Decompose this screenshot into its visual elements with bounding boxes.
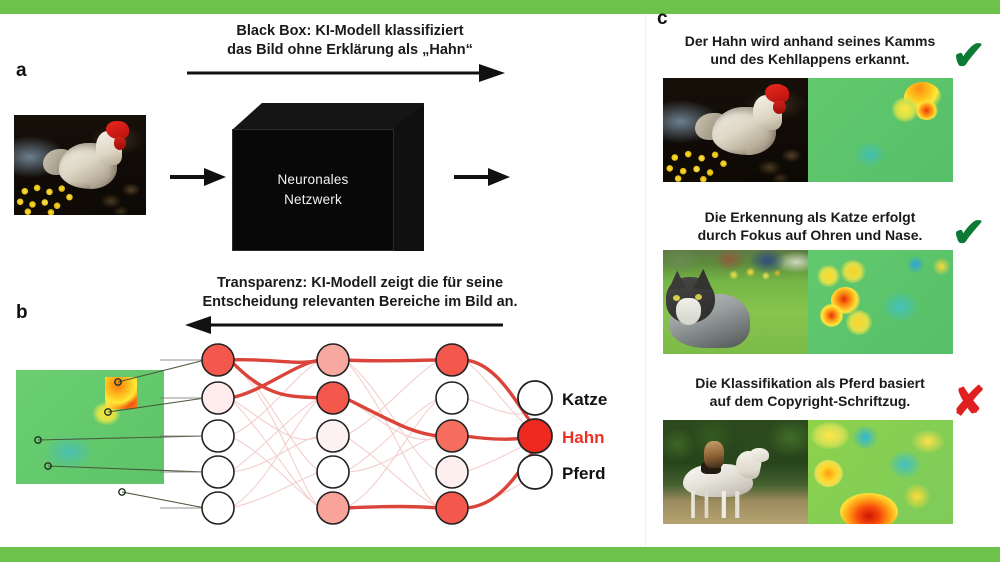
panel-label-a: a	[16, 60, 27, 82]
output-node-katze	[518, 381, 552, 415]
horse-rider	[704, 441, 724, 468]
panel-a-caption-line2: das Bild ohne Erklärung als „Hahn“	[150, 41, 550, 60]
heatmap-warm-region-b	[933, 258, 950, 275]
cube-side-face	[393, 103, 424, 251]
panel-c-row-horse	[663, 420, 953, 524]
node-l2-1	[317, 382, 349, 414]
heatmap-cool-region-a	[852, 426, 878, 449]
black-box-label: Neuronales Netzwerk	[232, 129, 394, 251]
node-l1-2	[202, 420, 234, 452]
heatmap-hotspot-copyright	[840, 493, 898, 524]
top-green-bar	[0, 0, 1000, 14]
node-l2-4	[317, 492, 349, 524]
status-mark-check-1: ✔	[952, 213, 986, 253]
arrow-right-icon-output	[452, 166, 510, 188]
panel-c-caption-0: Der Hahn wird anhand seines Kamms und de…	[660, 32, 960, 68]
rooster-foliage	[96, 169, 146, 215]
heatmap-hotspot-left	[814, 460, 843, 487]
rooster-photo-panel-c	[663, 78, 808, 182]
heatmap-warm-region-topleft	[811, 422, 849, 449]
network-layer-3	[436, 344, 468, 524]
panel-a-caption-line1: Black Box: KI-Modell klassifiziert	[150, 22, 550, 41]
panel-c-caption-0-line1: Der Hahn wird anhand seines Kamms	[660, 32, 960, 50]
heatmap-cool-region-b	[883, 292, 918, 321]
arrow-right-icon-input	[168, 166, 226, 188]
panel-c-row-rooster	[663, 78, 953, 182]
image-pair	[663, 78, 953, 182]
network-output-layer	[518, 381, 552, 489]
heatmap-hotspot-wattle	[915, 101, 938, 120]
panel-a-caption: Black Box: KI-Modell klassifiziert das B…	[150, 22, 550, 59]
cat-photo	[663, 250, 808, 354]
node-l1-1	[202, 382, 234, 414]
panel-label-c: c	[657, 8, 668, 30]
figure-root: a Black Box: KI-Modell klassifiziert das…	[0, 0, 1000, 562]
black-box-label-line1: Neuronales	[277, 170, 348, 190]
network-edges-highlighted	[230, 360, 545, 508]
cube-top-face	[232, 103, 424, 130]
cat-relevance-heatmap	[808, 250, 953, 354]
horse-head	[750, 448, 769, 462]
node-l3-2	[436, 420, 468, 452]
cat-muzzle	[676, 298, 701, 325]
heatmap-marker-circles	[35, 379, 125, 495]
node-l3-3	[436, 456, 468, 488]
node-l3-1	[436, 382, 468, 414]
output-label-pferd: Pferd	[562, 464, 605, 483]
node-l1-0	[202, 344, 234, 376]
node-l2-3	[317, 456, 349, 488]
network-layer-2	[317, 344, 349, 524]
panel-c-caption-0-line2: und des Kehllappens erkannt.	[660, 50, 960, 68]
panel-c-caption-1: Die Erkennung als Katze erfolgt durch Fo…	[660, 208, 960, 244]
heatmap-hotspot-chin	[820, 304, 843, 327]
network-edges-faint	[230, 360, 545, 508]
horse-relevance-heatmap	[808, 420, 953, 524]
yellow-flowers	[721, 265, 785, 284]
neural-network-diagram: Katze Hahn Pferd	[0, 330, 640, 530]
bottom-green-bar	[0, 547, 1000, 562]
arrow-right-icon-forward	[185, 62, 505, 84]
output-label-katze: Katze	[562, 390, 607, 409]
heatmap-cool-region-a	[907, 256, 924, 273]
panel-label-b: b	[16, 302, 28, 324]
network-input-stubs	[160, 360, 205, 508]
status-mark-cross-2: ✘	[952, 382, 986, 422]
cat-eye-right	[695, 294, 702, 300]
output-node-hahn	[518, 419, 552, 453]
output-node-pferd	[518, 455, 552, 489]
node-l1-4	[202, 492, 234, 524]
output-label-hahn: Hahn	[562, 428, 605, 447]
panel-b-caption-line2: Entscheidung relevanten Bereiche im Bild…	[150, 293, 570, 312]
node-l2-2	[317, 420, 349, 452]
horse-legs	[686, 491, 747, 518]
horse-with-rider-photo	[663, 420, 808, 524]
rooster-foliage	[753, 134, 808, 182]
image-pair	[663, 420, 953, 524]
node-l2-0	[317, 344, 349, 376]
panel-c-caption-2-line2: auf dem Copyright-Schriftzug.	[660, 392, 960, 410]
black-box-label-line2: Netzwerk	[284, 190, 342, 210]
node-l3-4	[436, 492, 468, 524]
network-layer-1	[202, 344, 234, 524]
node-l1-3	[202, 456, 234, 488]
heatmap-hotspot-ear-left	[817, 265, 840, 288]
status-mark-check-0: ✔	[952, 36, 986, 76]
panel-c-caption-2-line1: Die Klassifikation als Pferd basiert	[660, 374, 960, 392]
rooster-flowers	[14, 182, 91, 215]
black-box-neural-network: Neuronales Netzwerk	[232, 103, 424, 251]
panel-b-caption-line1: Transparenz: KI-Modell zeigt die für sei…	[150, 274, 570, 293]
heatmap-warm-region	[892, 97, 918, 122]
panel-c-caption-2: Die Klassifikation als Pferd basiert auf…	[660, 374, 960, 410]
panel-b-caption: Transparenz: KI-Modell zeigt die für sei…	[150, 274, 570, 311]
node-l3-0	[436, 344, 468, 376]
image-pair	[663, 250, 953, 354]
panel-c-row-cat	[663, 250, 953, 354]
rooster-photo-panel-a	[14, 115, 146, 215]
panel-c-caption-1-line1: Die Erkennung als Katze erfolgt	[660, 208, 960, 226]
panel-divider	[645, 14, 646, 547]
heatmap-warm-region	[846, 310, 872, 335]
panel-c-caption-1-line2: durch Fokus auf Ohren und Nase.	[660, 226, 960, 244]
rooster-relevance-heatmap	[808, 78, 953, 182]
rooster-flowers	[663, 148, 747, 182]
